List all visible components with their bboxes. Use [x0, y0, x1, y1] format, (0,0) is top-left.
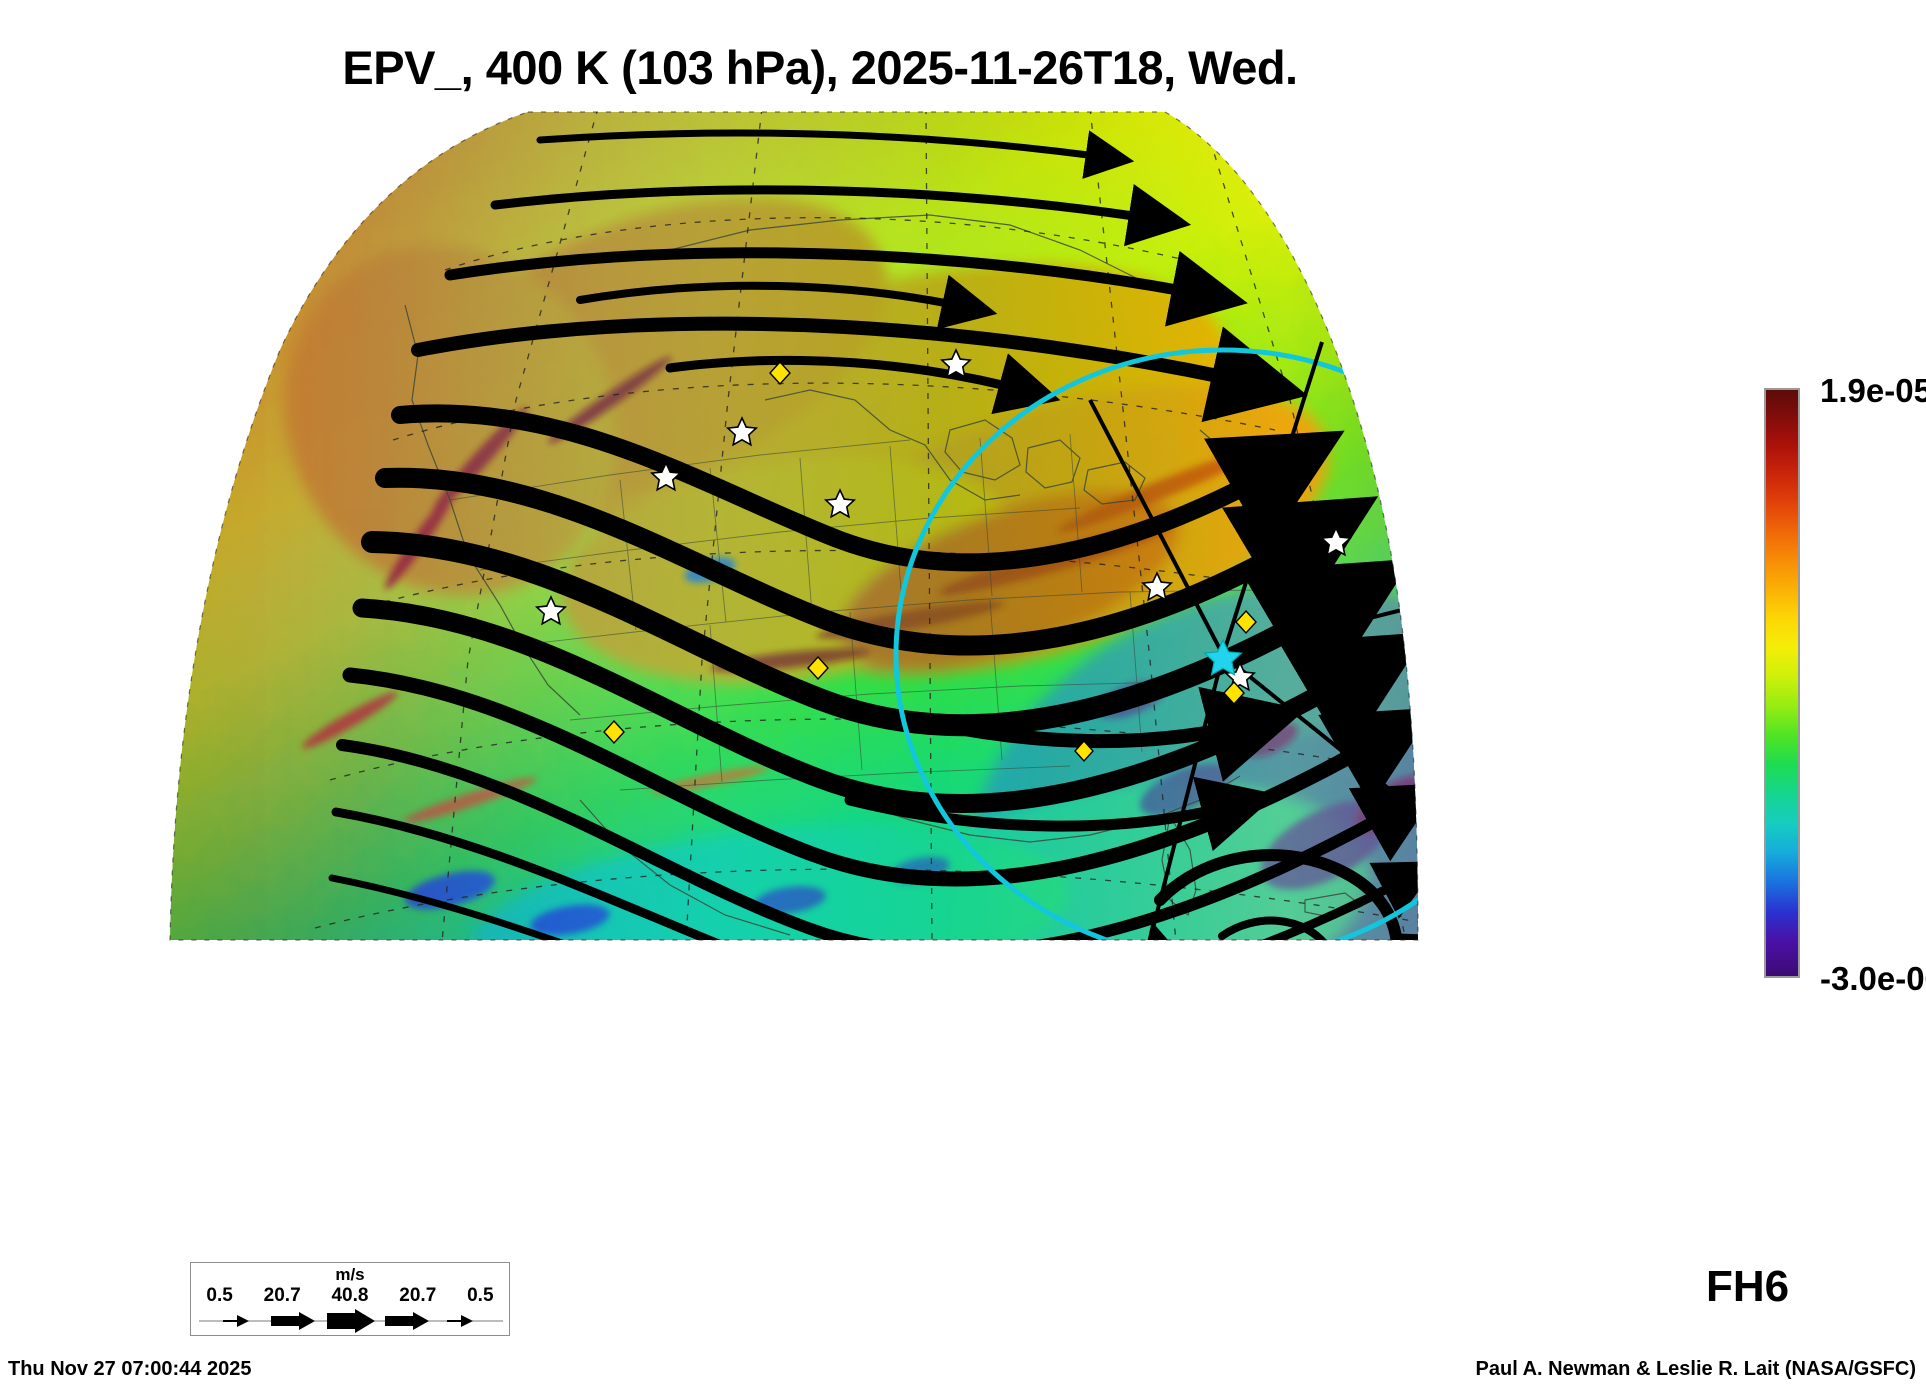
wind-key-tick: 40.8	[331, 1285, 368, 1307]
wind-key-arrow-scale	[199, 1309, 503, 1333]
generation-timestamp: Thu Nov 27 07:00:44 2025	[8, 1358, 251, 1381]
wind-key-tick: 0.5	[467, 1285, 493, 1307]
colorbar-gradient	[1764, 388, 1800, 978]
wind-key-tick: 20.7	[399, 1285, 436, 1307]
wind-key-units-label: m/s	[191, 1265, 509, 1285]
wind-speed-key: m/s 0.5 20.7 40.8 20.7 0.5	[190, 1262, 510, 1336]
colorbar[interactable]: 1.9e-05 -3.0e-06	[1764, 388, 1924, 988]
page-title: EPV_, 400 K (103 hPa), 2025-11-26T18, We…	[0, 40, 1640, 95]
author-credit: Paul A. Newman & Leslie R. Lait (NASA/GS…	[1476, 1358, 1916, 1381]
wind-key-tick: 0.5	[206, 1285, 232, 1307]
forecast-hour-label: FH6	[1706, 1262, 1789, 1312]
wind-key-tick-labels: 0.5 20.7 40.8 20.7 0.5	[191, 1285, 509, 1307]
colorbar-min-label: -3.0e-06	[1820, 960, 1926, 998]
epv-heatmap-chart[interactable]	[150, 100, 1570, 1170]
wind-key-tick: 20.7	[264, 1285, 301, 1307]
colorbar-max-label: 1.9e-05	[1820, 372, 1926, 410]
map-panel[interactable]	[150, 100, 1570, 1170]
